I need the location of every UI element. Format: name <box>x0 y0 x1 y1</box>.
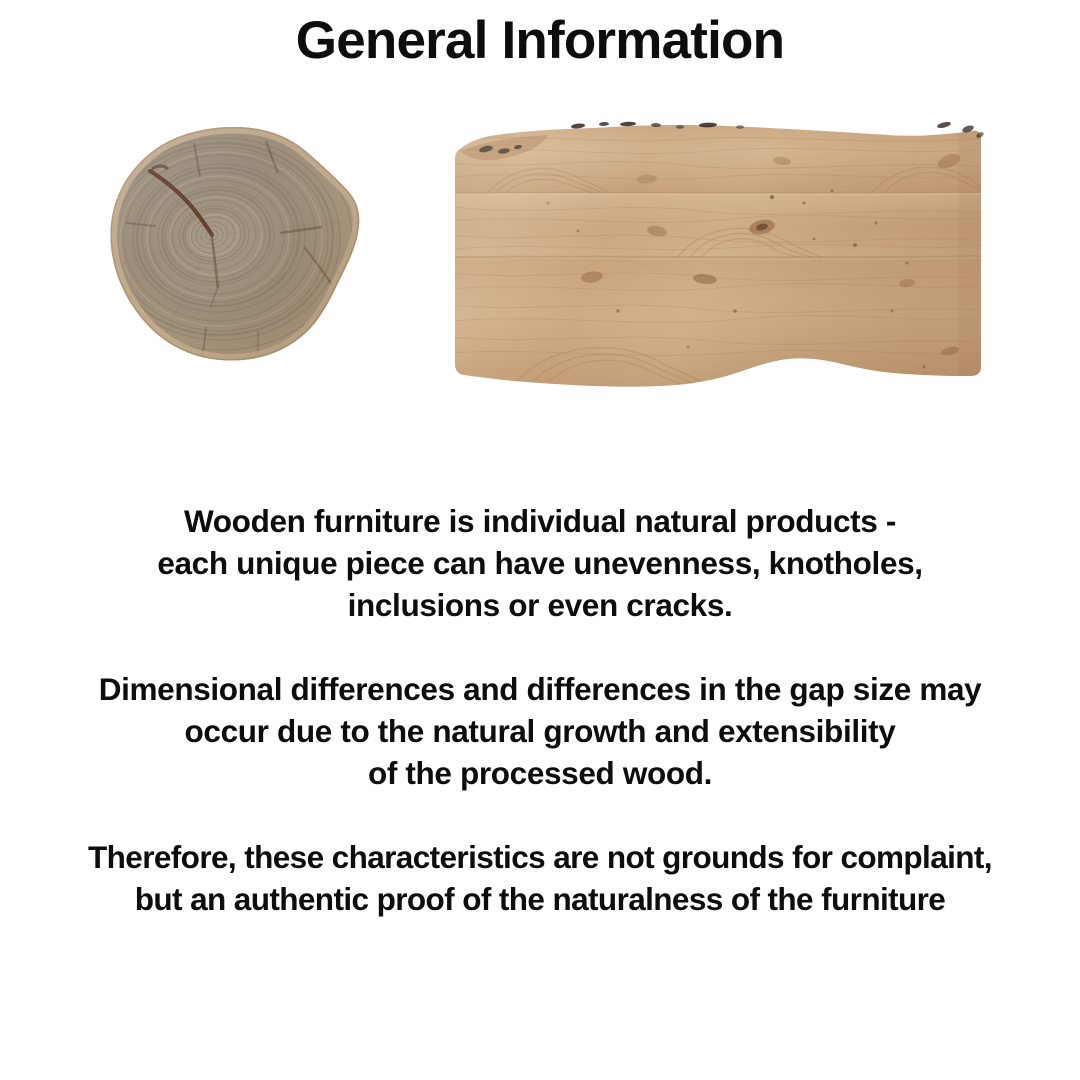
info-page: General Information <box>0 0 1080 1080</box>
paragraph-not-grounds-for-complaint: Therefore, these characteristics are not… <box>0 836 1080 920</box>
wood-cross-section-image <box>108 125 362 363</box>
wood-slab-image <box>452 105 988 400</box>
paragraph-natural-products: Wooden furniture is individual natural p… <box>0 500 1080 626</box>
body-copy: Wooden furniture is individual natural p… <box>0 500 1080 920</box>
page-title: General Information <box>0 12 1080 70</box>
paragraph-dimensional-differences: Dimensional differences and differences … <box>0 668 1080 794</box>
product-image-band <box>0 105 1080 405</box>
